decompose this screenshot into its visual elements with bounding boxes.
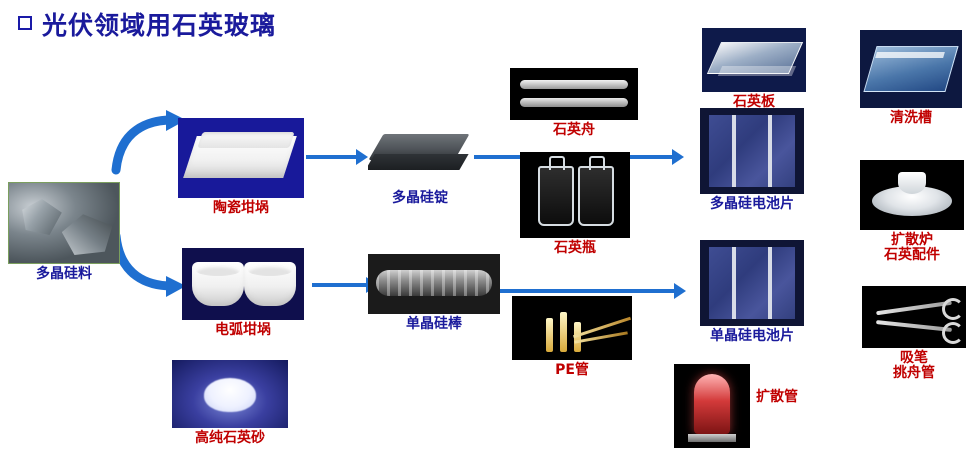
node-diffusion-tube-caption: 扩散管: [756, 390, 798, 405]
poly-ingot-label: 多晶硅锭: [368, 191, 472, 206]
mono-cell-label: 单晶硅电池片: [700, 329, 804, 344]
suction-pen-photo: [862, 286, 966, 348]
diffusion-furnace-parts-label-line2: 石英配件: [860, 248, 964, 263]
node-cleaning-tank: 清洗槽: [860, 30, 962, 126]
node-poly-cell: 多晶硅电池片: [700, 108, 804, 212]
diagram-canvas: 光伏领域用石英玻璃 多晶硅料 陶瓷坩埚 多晶硅锭 石英舟: [0, 0, 978, 457]
pe-tube-photo: [512, 296, 632, 360]
ceramic-crucible-label: 陶瓷坩埚: [178, 201, 304, 216]
cleaning-tank-label: 清洗槽: [860, 111, 962, 126]
silicon-feedstock-photo: [8, 182, 120, 264]
suction-pen-label-line2: 挑舟管: [862, 366, 966, 381]
quartz-bottle-label: 石英瓶: [520, 241, 630, 256]
suction-pen-hook: [942, 322, 964, 344]
node-high-purity-sand: 高纯石英砂: [172, 360, 288, 446]
mono-cell-photo: [700, 240, 804, 326]
arrow-ceramic-to-ingot-line: [306, 155, 358, 159]
node-pe-tube: PE管: [512, 296, 632, 378]
node-diffusion-tube: [674, 364, 750, 448]
quartz-plate-photo: [702, 28, 806, 92]
page-title: 光伏领域用石英玻璃: [42, 6, 276, 42]
arc-crucible-label: 电弧坩埚: [182, 323, 304, 338]
arrow-ceramic-to-ingot-head: [356, 149, 368, 165]
cleaning-tank-photo: [860, 30, 962, 108]
poly-ingot-photo: [368, 122, 472, 188]
quartz-bottle-photo: [520, 152, 630, 238]
arrow-arc-to-rod-line: [312, 283, 368, 287]
mono-cell-busbar: [732, 247, 736, 319]
diffusion-furnace-parts-photo: [860, 160, 964, 230]
suction-pen-label-line1: 吸笔: [862, 351, 966, 366]
silicon-feedstock-label: 多晶硅料: [8, 267, 120, 282]
quartz-boat-photo: [510, 68, 638, 120]
mono-rod-photo: [368, 254, 500, 314]
quartz-bottle-right: [578, 166, 614, 226]
suction-pen-hook: [942, 298, 964, 320]
poly-cell-busbar: [732, 115, 736, 187]
suction-pen-rod: [876, 320, 952, 332]
quartz-boat-label: 石英舟: [510, 123, 638, 138]
node-diffusion-furnace-parts: 扩散炉 石英配件: [860, 160, 964, 263]
suction-pen-rod: [876, 301, 952, 316]
arc-crucible-photo: [182, 248, 304, 320]
arrow-rod-to-monocell-head: [674, 283, 686, 299]
pe-tube-rod: [546, 318, 553, 352]
node-mono-cell: 单晶硅电池片: [700, 240, 804, 344]
node-suction-pen: 吸笔 挑舟管: [862, 286, 966, 381]
poly-cell-photo: [700, 108, 804, 194]
node-poly-ingot: 多晶硅锭: [368, 122, 472, 206]
diffusion-tube-photo: [674, 364, 750, 448]
pe-tube-rod: [560, 312, 567, 352]
mono-cell-wafer: [709, 247, 795, 319]
node-quartz-boat: 石英舟: [510, 68, 638, 138]
arrow-rod-to-monocell-line: [500, 289, 676, 293]
arrow-feed-to-arc: [108, 228, 188, 303]
arrow-ingot-to-polycell-head: [672, 149, 684, 165]
node-quartz-bottle: 石英瓶: [520, 152, 630, 256]
high-purity-sand-label: 高纯石英砂: [172, 431, 288, 446]
node-arc-crucible: 电弧坩埚: [182, 248, 304, 338]
arc-crucible-cup-right: [244, 262, 296, 306]
node-quartz-plate: 石英板: [702, 28, 806, 110]
mono-rod-label: 单晶硅棒: [368, 317, 500, 332]
ceramic-crucible-photo: [178, 118, 304, 198]
mono-cell-busbar: [768, 247, 772, 319]
diffusion-furnace-parts-label-line1: 扩散炉: [860, 233, 964, 248]
high-purity-sand-photo: [172, 360, 288, 428]
pe-tube-label: PE管: [512, 363, 632, 378]
node-ceramic-crucible: 陶瓷坩埚: [178, 118, 304, 216]
arc-crucible-cup-left: [192, 262, 244, 306]
square-bullet-icon: [18, 16, 32, 30]
node-mono-rod: 单晶硅棒: [368, 254, 500, 332]
arrow-feed-to-ceramic: [108, 108, 188, 178]
node-silicon-feedstock: 多晶硅料: [8, 182, 120, 282]
diffusion-tube-label: 扩散管: [756, 390, 798, 405]
quartz-bottle-left: [538, 166, 574, 226]
poly-cell-wafer: [709, 115, 795, 187]
poly-cell-busbar: [768, 115, 772, 187]
poly-cell-label: 多晶硅电池片: [700, 197, 804, 212]
